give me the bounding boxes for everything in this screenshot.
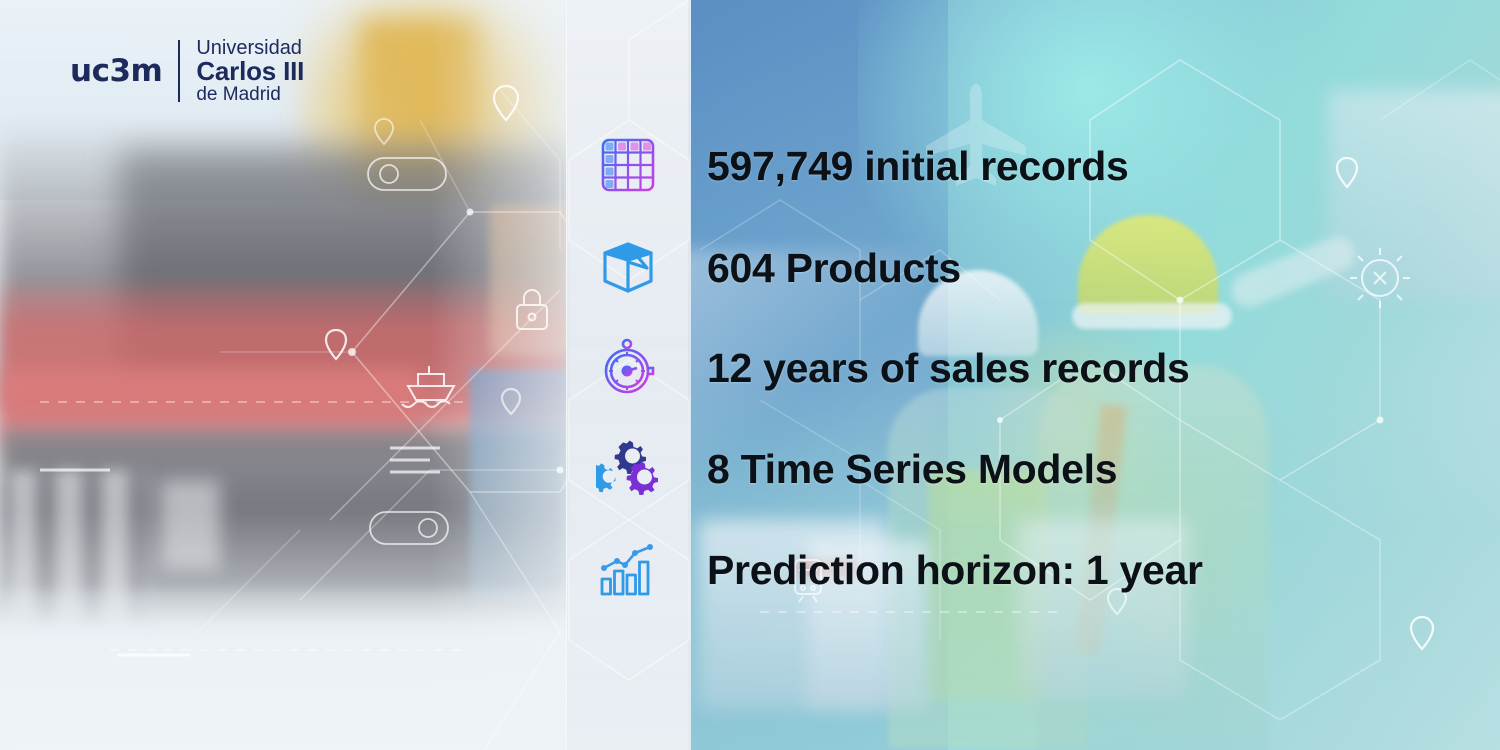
- stat-icon-0: [566, 130, 690, 200]
- stat-icon-column: [566, 0, 690, 750]
- logo-line-1: Universidad: [196, 38, 304, 58]
- logo-university-name: Universidad Carlos III de Madrid: [196, 38, 304, 104]
- bar-chart-trend-icon: [597, 542, 659, 600]
- gears-icon: [596, 440, 660, 498]
- stat-icon-3: [566, 434, 690, 504]
- stat-label-0: 597,749 initial records: [707, 143, 1129, 190]
- logo-line-2: Carlos III: [196, 58, 304, 85]
- open-box-icon: [597, 238, 659, 296]
- stat-label-1: 604 Products: [707, 245, 961, 292]
- logo-line-3: de Madrid: [196, 85, 304, 104]
- uc3m-logo: uc3m Universidad Carlos III de Madrid: [70, 38, 304, 104]
- stat-icon-1: [566, 232, 690, 302]
- grid-table-icon: [599, 136, 657, 194]
- photo-right-fade: [430, 0, 570, 750]
- photo-white-block: [160, 480, 220, 570]
- stat-label-3: 8 Time Series Models: [707, 446, 1117, 493]
- stat-icon-4: [566, 536, 690, 606]
- stat-label-4: Prediction horizon: 1 year: [707, 547, 1203, 594]
- logo-wordmark: uc3m: [70, 56, 162, 87]
- stat-text-list: 597,749 initial records 604 Products 12 …: [707, 0, 1407, 750]
- logo-divider: [178, 40, 180, 102]
- stopwatch-icon: [599, 338, 657, 396]
- stat-icon-2: [566, 332, 690, 402]
- stat-label-2: 12 years of sales records: [707, 345, 1190, 392]
- left-background-photo: [0, 0, 570, 750]
- slide-canvas: 597,749 initial records 604 Products 12 …: [0, 0, 1500, 750]
